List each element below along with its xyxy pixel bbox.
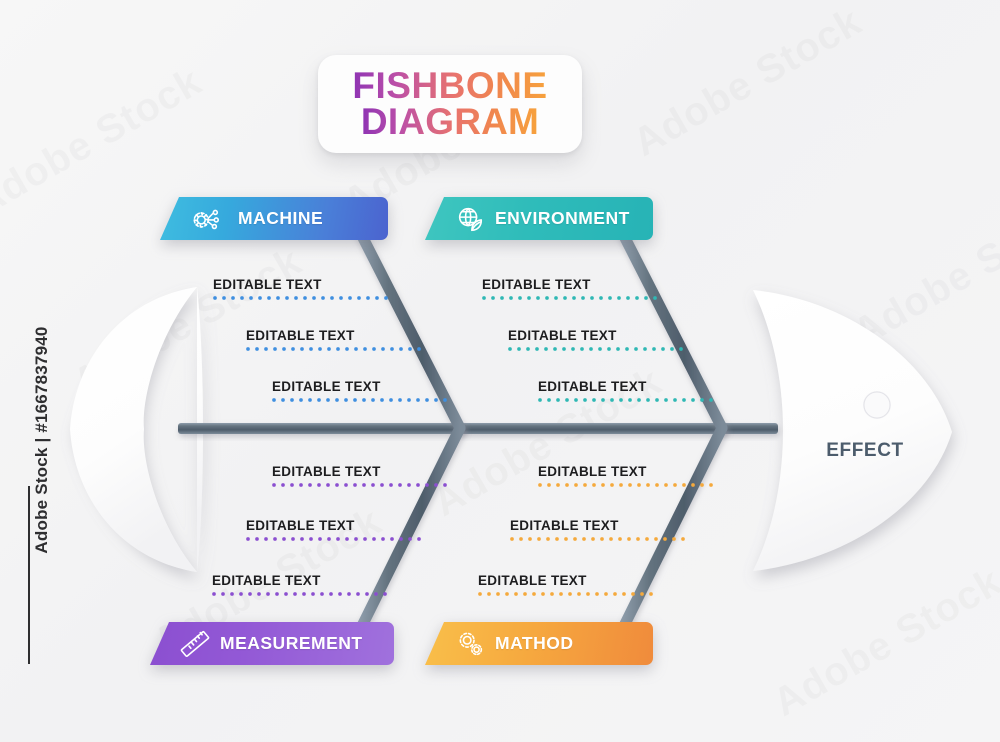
editable-row[interactable]: EDITABLE TEXT — [246, 328, 421, 354]
category-banner-mathod[interactable]: MATHOD — [425, 622, 653, 665]
category-label-machine: MACHINE — [238, 208, 323, 229]
editable-row-label[interactable]: EDITABLE TEXT — [478, 573, 656, 588]
editable-row[interactable]: EDITABLE TEXT — [508, 328, 686, 354]
editable-row[interactable]: EDITABLE TEXT — [272, 464, 450, 490]
row-underline-dots — [482, 296, 657, 300]
fish-tail-notch — [70, 287, 197, 572]
globe-leaf-icon — [455, 204, 485, 234]
editable-row[interactable]: EDITABLE TEXT — [482, 277, 657, 303]
editable-row-label[interactable]: EDITABLE TEXT — [246, 518, 424, 533]
row-underline-dots — [508, 347, 686, 351]
editable-row[interactable]: EDITABLE TEXT — [538, 379, 716, 405]
row-underline-dots — [510, 537, 688, 541]
row-underline-dots — [538, 398, 716, 402]
editable-row-label[interactable]: EDITABLE TEXT — [213, 277, 388, 292]
category-label-measurement: MEASUREMENT — [220, 633, 363, 654]
editable-row-label[interactable]: EDITABLE TEXT — [538, 379, 716, 394]
row-underline-dots — [213, 296, 388, 300]
editable-row-label[interactable]: EDITABLE TEXT — [510, 518, 688, 533]
row-underline-dots — [212, 592, 390, 596]
fish-head — [753, 290, 952, 571]
editable-row[interactable]: EDITABLE TEXT — [272, 379, 450, 405]
category-banner-machine[interactable]: MACHINE — [160, 197, 388, 240]
editable-row-label[interactable]: EDITABLE TEXT — [508, 328, 686, 343]
editable-row[interactable]: EDITABLE TEXT — [212, 573, 390, 599]
fishbone-diagram-canvas: Adobe Stock Adobe Stock Adobe Stock Adob… — [0, 0, 1000, 742]
editable-row[interactable]: EDITABLE TEXT — [510, 518, 688, 544]
editable-row[interactable]: EDITABLE TEXT — [538, 464, 716, 490]
ruler-icon — [180, 629, 210, 659]
row-underline-dots — [478, 592, 656, 596]
editable-row-label[interactable]: EDITABLE TEXT — [212, 573, 390, 588]
editable-row-label[interactable]: EDITABLE TEXT — [482, 277, 657, 292]
row-underline-dots — [246, 537, 424, 541]
row-underline-dots — [246, 347, 421, 351]
editable-row-label[interactable]: EDITABLE TEXT — [538, 464, 716, 479]
category-label-environment: ENVIRONMENT — [495, 208, 630, 229]
editable-row[interactable]: EDITABLE TEXT — [213, 277, 388, 303]
editable-row-label[interactable]: EDITABLE TEXT — [272, 379, 450, 394]
gears-icon — [455, 629, 485, 659]
editable-row[interactable]: EDITABLE TEXT — [246, 518, 424, 544]
category-banner-environment[interactable]: ENVIRONMENT — [425, 197, 653, 240]
gear-network-icon — [190, 204, 220, 234]
editable-row-label[interactable]: EDITABLE TEXT — [246, 328, 421, 343]
effect-label: EFFECT — [790, 440, 940, 462]
row-underline-dots — [272, 483, 450, 487]
category-banner-measurement[interactable]: MEASUREMENT — [150, 622, 394, 665]
fish-eye-inner — [864, 392, 890, 418]
row-underline-dots — [538, 483, 716, 487]
editable-row[interactable]: EDITABLE TEXT — [478, 573, 656, 599]
row-underline-dots — [272, 398, 450, 402]
editable-row-label[interactable]: EDITABLE TEXT — [272, 464, 450, 479]
fish-spine — [178, 423, 778, 434]
category-label-mathod: MATHOD — [495, 633, 574, 654]
